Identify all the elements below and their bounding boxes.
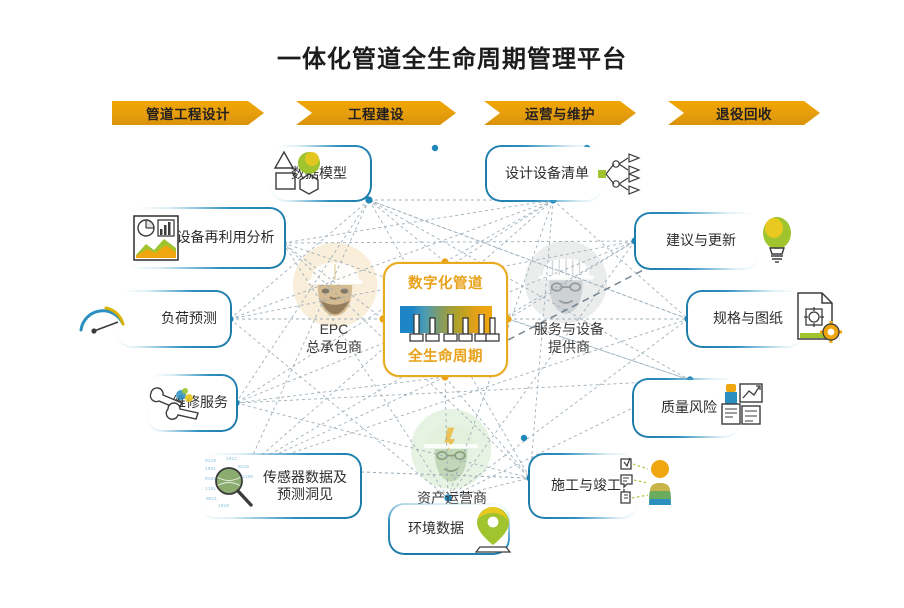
- phase-banner-label: 退役回收: [716, 103, 772, 123]
- hub-bottom-label: 全生命周期: [408, 345, 483, 366]
- node-load-forecast[interactable]: 负荷预测: [118, 292, 230, 346]
- phase-banner-design[interactable]: 管道工程设计: [112, 101, 264, 125]
- svg-text:0110: 0110: [238, 464, 249, 470]
- role-label: 服务与设备 提供商: [534, 321, 604, 355]
- phase-banner-decommission[interactable]: 退役回收: [668, 101, 820, 125]
- node-label: 负荷预测: [156, 310, 222, 328]
- node-design-equipment-list[interactable]: 设计设备清单: [487, 147, 601, 200]
- phase-banner-label: 运营与维护: [525, 103, 595, 123]
- node-label: 设计设备清单: [497, 165, 597, 183]
- hub-digital-pipeline[interactable]: 数字化管道: [383, 262, 508, 377]
- svg-text:1100: 1100: [242, 474, 253, 480]
- phase-banner-label: 管道工程设计: [146, 103, 230, 123]
- node-suggestions-updates[interactable]: 建议与更新: [636, 214, 758, 268]
- role-label: EPC 总承包商: [306, 321, 362, 355]
- diagram-canvas: 一体化管道全生命周期管理平台 管道工程设计 工程建设 运营与维护 退役回收: [0, 0, 904, 608]
- phase-banner-label: 工程建设: [348, 103, 404, 123]
- svg-text:1001: 1001: [205, 466, 216, 472]
- worker-checklist-icon: [616, 455, 678, 515]
- svg-text:0011: 0011: [206, 496, 217, 502]
- svg-text:1011: 1011: [226, 456, 237, 462]
- page-title: 一体化管道全生命周期管理平台: [0, 48, 904, 72]
- chart-analysis-icon: [133, 215, 179, 261]
- phase-banner-operations[interactable]: 运营与维护: [484, 101, 636, 125]
- svg-text:0110: 0110: [205, 458, 216, 464]
- phase-banner-construction[interactable]: 工程建设: [296, 101, 456, 125]
- node-label: 建议与更新: [648, 232, 754, 250]
- svg-text:0101: 0101: [205, 476, 216, 482]
- data-magnifier-icon: 0110 1011 1001 0110 0101 1100 1101 0011 …: [204, 454, 260, 512]
- svg-text:1010: 1010: [218, 503, 229, 509]
- gauge-icon: [76, 298, 128, 338]
- hub-top-label: 数字化管道: [408, 272, 483, 293]
- node-label: 传感器数据及 预测洞见: [258, 469, 352, 504]
- shapes-icon: [272, 148, 324, 198]
- hierarchy-tree-icon: [598, 152, 646, 198]
- role-epc-contractor[interactable]: EPC 总承包商: [286, 302, 382, 357]
- pipe-valve-icon: [484, 314, 506, 342]
- lightbulb-icon: [758, 214, 796, 266]
- svg-text:1101: 1101: [205, 486, 216, 492]
- node-specs-drawings[interactable]: 规格与图纸: [688, 292, 802, 346]
- node-label: 设备再利用分析: [175, 229, 276, 247]
- role-asset-operator[interactable]: 资产运营商: [398, 471, 506, 507]
- map-pin-icon: [472, 503, 514, 553]
- document-gear-icon: [794, 291, 842, 347]
- role-service-supplier[interactable]: 服务与设备 提供商: [516, 302, 622, 357]
- inspection-board-icon: [716, 378, 766, 428]
- node-label: 环境数据: [400, 520, 472, 538]
- wrench-gear-icon: [148, 385, 202, 421]
- node-label: 规格与图纸: [698, 310, 798, 328]
- pipeline-gradient-bar: [400, 306, 492, 333]
